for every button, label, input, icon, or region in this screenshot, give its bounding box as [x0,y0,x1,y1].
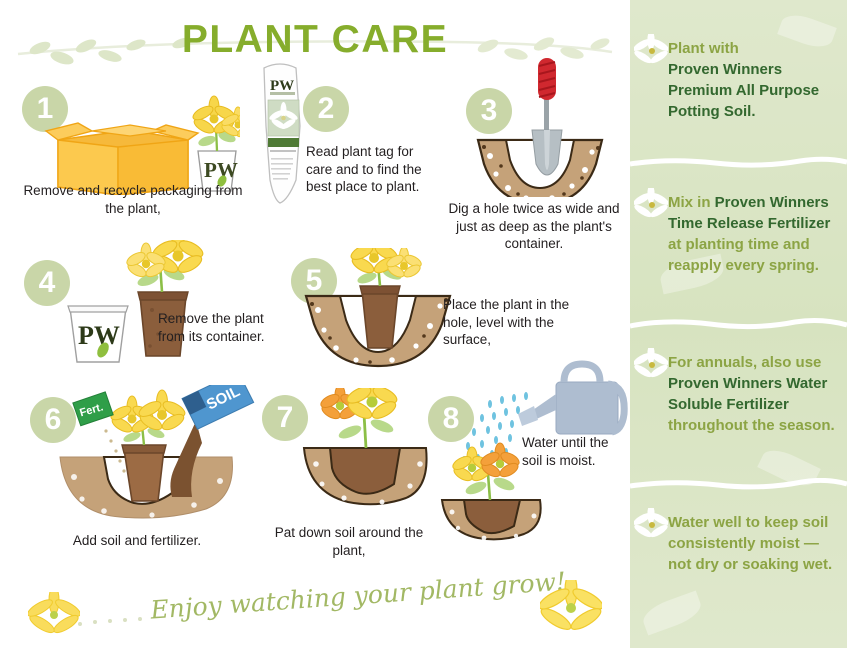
footer-banner: Enjoy watching your plant grow! [0,578,630,638]
tips-sidebar: Plant with Proven Winners Premium All Pu… [630,0,847,648]
flower-bullet-icon [634,508,668,540]
flower-bullet-icon [634,188,668,220]
patting-soil-art [300,388,440,518]
sidebar-divider [630,318,847,332]
step-caption-5: Place the plant in the hole, level with … [443,296,593,349]
tip-line: not dry or soaking wet. [668,556,832,573]
tip-line: Water well to keep soil [668,514,828,531]
plant-out-of-pot-art: PW [60,240,240,365]
step-caption-6: Add soil and fertilizer. [32,532,242,550]
sidebar-tip-2: Mix in Proven Winners Time Release Ferti… [630,192,847,276]
footer-tagline: Enjoy watching your plant grow! [149,568,540,624]
trowel-digging-hole-art [470,52,610,197]
tip-line-brand: Potting Soil. [668,103,756,120]
footer-flower-left-icon [28,592,80,638]
sidebar-divider [630,478,847,492]
step-caption-7: Pat down soil around the plant, [264,524,434,559]
flower-bullet-icon [634,34,668,66]
footer-flower-right-icon [540,580,602,636]
tip-line-brand: Soluble Fertilizer [668,396,789,413]
steps-panel: PLANT CARE 1 PW [0,0,630,648]
tip-line: consistently moist — [668,535,819,552]
tip-line: reapply every spring. [668,257,819,274]
step-caption-4: Remove the plant from its container. [158,310,288,345]
tip-line-brand: Proven Winners [715,194,829,211]
adding-soil-and-fertilizer-art: SOIL Fert. [56,385,256,525]
sidebar-tip-1-text: Plant with Proven Winners Premium All Pu… [668,38,835,122]
tip-line-brand: Time Release Fertilizer [668,215,830,232]
box-and-potted-plant-art: PW [40,95,240,195]
tip-line-brand: Proven Winners Water [668,375,827,392]
footer-dot [123,618,127,622]
tip-line-brand: Premium All Purpose [668,82,819,99]
step-caption-3: Dig a hole twice as wide and just as dee… [440,200,628,253]
tip-line: throughout the season. [668,417,835,434]
step-caption-2: Read plant tag for care and to find the … [306,143,431,196]
tip-line: Plant with [668,40,739,57]
plant-in-hole-art [300,248,460,370]
flower-bullet-icon [634,348,668,380]
plant-care-infographic: PLANT CARE 1 PW [0,0,847,648]
sidebar-tip-4-text: Water well to keep soil consistently moi… [668,512,835,575]
sidebar-tip-1: Plant with Proven Winners Premium All Pu… [630,38,847,122]
tip-line: Mix in [668,194,715,211]
footer-dot [78,622,82,626]
sidebar-tip-2-text: Mix in Proven Winners Time Release Ferti… [668,192,835,276]
footer-dot [108,619,112,623]
tip-line-brand: Proven Winners [668,61,782,78]
footer-dot [93,620,97,624]
sidebar-tip-4: Water well to keep soil consistently moi… [630,512,847,575]
svg-text:PW: PW [78,321,120,350]
sidebar-texture [639,591,704,636]
step-caption-1: Remove and recycle packaging from the pl… [18,182,248,217]
sidebar-tip-3: For annuals, also use Proven Winners Wat… [630,352,847,436]
tip-line: at planting time and [668,236,810,253]
sidebar-tip-3-text: For annuals, also use Proven Winners Wat… [668,352,835,436]
tag-logo-text: PW [270,78,294,94]
sidebar-divider [630,156,847,170]
footer-dot [138,617,142,621]
step-caption-8: Water until the soil is moist. [522,434,632,469]
tip-line: For annuals, also use [668,354,821,371]
